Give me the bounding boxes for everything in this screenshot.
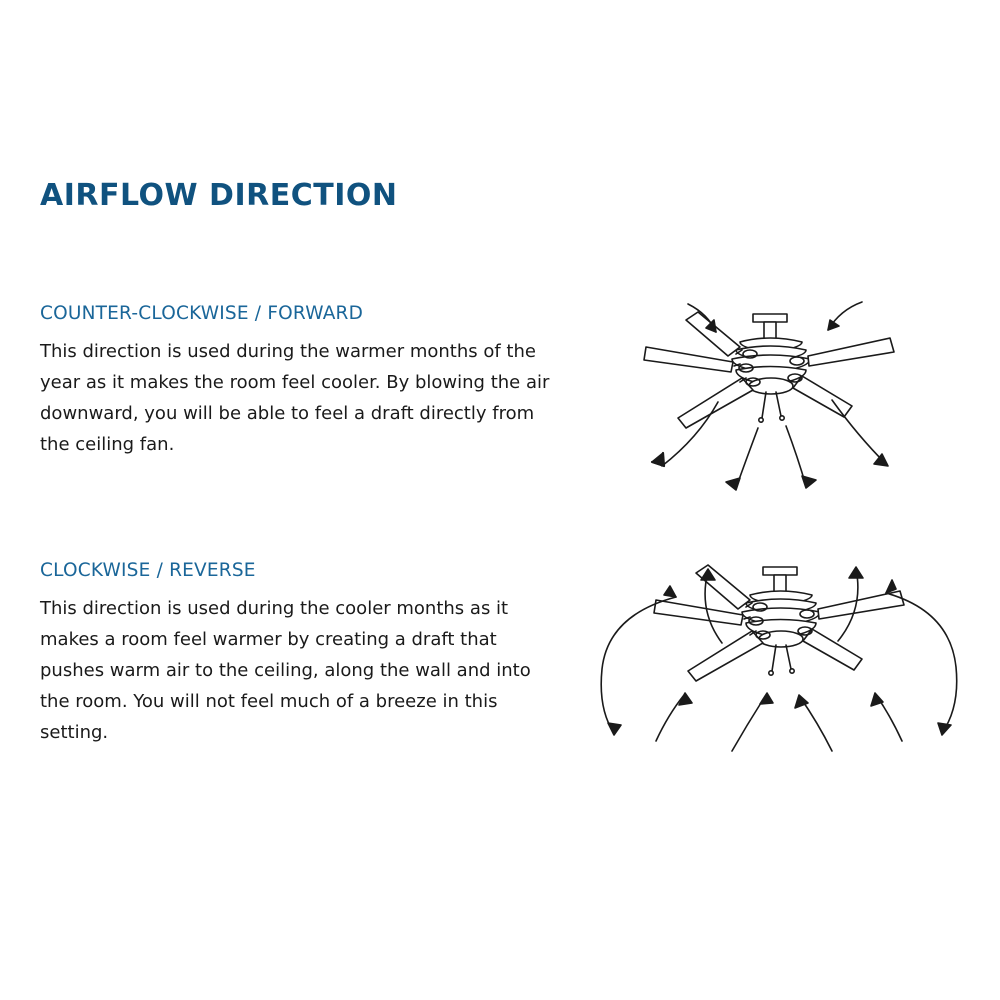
section-body-clockwise: This direction is used during the cooler… (40, 593, 560, 748)
section-heading-clockwise: CLOCKWISE / REVERSE (40, 560, 560, 581)
section-clockwise: CLOCKWISE / REVERSE This direction is us… (40, 560, 560, 748)
section-body-counter-clockwise: This direction is used during the warmer… (40, 336, 560, 460)
ceiling-fan-reverse-icon (580, 545, 980, 780)
page-title: AIRFLOW DIRECTION (40, 178, 397, 213)
airflow-direction-page: AIRFLOW DIRECTION COUNTER-CLOCKWISE / FO… (0, 0, 1000, 1000)
section-heading-counter-clockwise: COUNTER-CLOCKWISE / FORWARD (40, 303, 560, 324)
section-counter-clockwise: COUNTER-CLOCKWISE / FORWARD This directi… (40, 303, 560, 460)
ceiling-fan-forward-icon (590, 290, 970, 520)
